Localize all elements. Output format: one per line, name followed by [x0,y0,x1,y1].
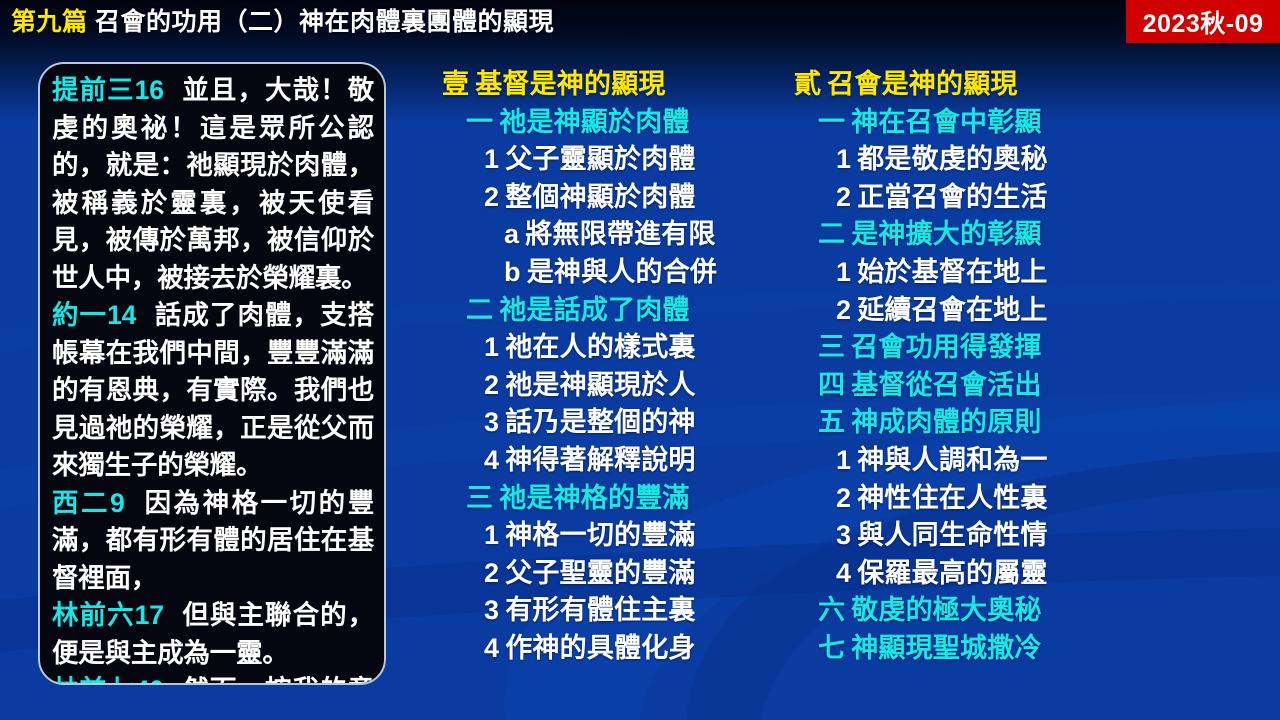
outline-marker: 1 [836,445,851,475]
verse-spacer [138,300,155,330]
outline-item-level-3: 2神性住在人性裏 [784,480,1114,518]
outline-marker: 2 [836,182,851,212]
outline-text: 有形有體住主裏 [505,595,695,625]
outline-marker: 二 [818,219,845,249]
outline-item-level-3: 3話乃是整個的神 [432,404,762,442]
outline-marker: 3 [484,595,499,625]
outline-marker: 五 [818,407,845,437]
outline-item-level-3: 4神得著解釋說明 [432,442,762,480]
outline-item-level-2: 六敬虔的極大奧秘 [784,592,1114,630]
outline-marker: 3 [484,407,499,437]
outline-text: 作神的具體化身 [505,633,695,663]
verse-item: 西二9 因為神格一切的豐滿，都有形有體的居住在基督裡面， [52,485,374,598]
outline-marker: 六 [818,595,845,625]
outline-text: 將無限帶進有限 [525,219,715,249]
outline-item-level-3: 3與人同生命性情 [784,517,1114,555]
outline-text: 神在召會中彰顯 [851,107,1041,137]
outline-marker: 一 [818,107,845,137]
outline-marker: 2 [484,182,499,212]
verse-reference: 提前三16 [52,75,164,105]
outline-text: 話乃是整個的神 [505,407,695,437]
outline-text: 祂是神顯現於人 [505,370,695,400]
page-title: 第九篇 召會的功用（二）神在肉體裏團體的顯現 [0,0,554,44]
title-main: 召會的功用（二）神在肉體裏團體的顯現 [95,8,554,36]
outline-text: 神與人調和為一 [857,445,1047,475]
outline-item-level-3: 1始於基督在地上 [784,254,1114,292]
outline-marker: 二 [466,295,493,325]
verse-item: 林前七40 然而，按我的意見，她若守節更是有福；但我想我也有神的靈了。 [52,672,374,685]
outline-item-level-2: 二祂是話成了肉體 [432,292,762,330]
outline-marker: 4 [484,633,499,663]
outline-item-level-3: 4作神的具體化身 [432,630,762,668]
outline-marker: 一 [466,107,493,137]
outline-text: 祂在人的樣式裏 [505,332,695,362]
outline-column-one: 壹基督是神的顯現一祂是神顯於肉體1父子靈顯於肉體2整個神顯於肉體a將無限帶進有限… [432,66,762,668]
outline-marker: 三 [466,483,493,513]
outline-item-level-3: 3有形有體住主裏 [432,592,762,630]
outline-text: 父子聖靈的豐滿 [505,558,695,588]
outline-marker: 2 [836,483,851,513]
outline-text: 基督從召會活出 [851,370,1041,400]
outline-item-level-4: a將無限帶進有限 [432,216,762,254]
outline-item-level-2: 一神在召會中彰顯 [784,104,1114,142]
outline-text: 祂是神顯於肉體 [499,107,689,137]
outline-item-level-2: 四基督從召會活出 [784,367,1114,405]
verse-spacer [127,488,145,518]
outline-text: 都是敬虔的奧秘 [857,144,1047,174]
outline-item-level-3: 1父子靈顯於肉體 [432,141,762,179]
outline-item-level-3: 1神格一切的豐滿 [432,517,762,555]
outline-text: 神顯現聖城撒冷 [851,633,1041,663]
verse-reference: 約一14 [52,300,136,330]
outline-item-level-3: 2父子聖靈的豐滿 [432,555,762,593]
outline-item-level-3: 4保羅最高的屬靈 [784,555,1114,593]
outline-text: 保羅最高的屬靈 [857,558,1047,588]
outline-marker: 2 [836,295,851,325]
scripture-panel: 提前三16 並且，大哉！敬虔的奧祕！這是眾所公認的，就是：祂顯現於肉體，被稱義於… [38,62,386,685]
verse-spacer [166,675,183,685]
outline-item-level-3: 2祂是神顯現於人 [432,367,762,405]
outline-item-level-1: 貳召會是神的顯現 [784,66,1114,104]
outline-marker: 貳 [794,69,821,99]
outline-item-level-2: 三祂是神格的豐滿 [432,480,762,518]
outline-item-level-3: 2延續召會在地上 [784,292,1114,330]
outline-marker: 1 [484,144,499,174]
verse-text: 並且，大哉！敬虔的奧祕！這是眾所公認的，就是：祂顯現於肉體，被稱義於靈裏，被天使… [52,75,374,293]
outline-marker: 七 [818,633,845,663]
outline-text: 神格一切的豐滿 [505,520,695,550]
outline-marker: b [504,257,521,287]
outline-item-level-1: 壹基督是神的顯現 [432,66,762,104]
outline-marker: 1 [836,144,851,174]
outline-text: 神得著解釋說明 [505,445,695,475]
chapter-label: 第九篇 [11,8,88,36]
verse-spacer [166,600,183,630]
outline-item-level-3: 1祂在人的樣式裏 [432,329,762,367]
verse-item: 林前六17 但與主聯合的，便是與主成為一靈。 [52,597,374,672]
outline-item-level-3: 1都是敬虔的奧秘 [784,141,1114,179]
outline-item-level-3: 2整個神顯於肉體 [432,179,762,217]
outline-marker: 2 [484,558,499,588]
outline-text: 父子靈顯於肉體 [505,144,695,174]
outline-item-level-4: b是神與人的合併 [432,254,762,292]
outline-marker: 2 [484,370,499,400]
outline-marker: 1 [484,520,499,550]
outline-text: 正當召會的生活 [857,182,1047,212]
outline-item-level-2: 五神成肉體的原則 [784,404,1114,442]
outline-text: 是神擴大的彰顯 [851,219,1041,249]
outline-text: 整個神顯於肉體 [505,182,695,212]
verse-item: 提前三16 並且，大哉！敬虔的奧祕！這是眾所公認的，就是：祂顯現於肉體，被稱義於… [52,72,374,297]
outline-marker: 1 [484,332,499,362]
outline-text: 祂是話成了肉體 [499,295,689,325]
outline-marker: 1 [836,257,851,287]
outline-item-level-2: 七神顯現聖城撒冷 [784,630,1114,668]
verse-reference: 林前七40 [52,675,164,685]
outline-text: 始於基督在地上 [857,257,1047,287]
verse-item: 約一14 話成了肉體，支搭帳幕在我們中間，豐豐滿滿的有恩典，有實際。我們也見過祂… [52,297,374,485]
verse-spacer [166,75,183,105]
outline-text: 召會功用得發揮 [851,332,1041,362]
outline-item-level-2: 一祂是神顯於肉體 [432,104,762,142]
verse-reference: 西二9 [52,488,125,518]
outline-item-level-3: 2正當召會的生活 [784,179,1114,217]
outline-text: 基督是神的顯現 [475,69,665,99]
outline-text: 神成肉體的原則 [851,407,1041,437]
outline-text: 與人同生命性情 [857,520,1047,550]
outline-text: 是神與人的合併 [527,257,717,287]
title-bar: 第九篇 召會的功用（二）神在肉體裏團體的顯現 2023秋-09 [0,0,1280,44]
outline-text: 延續召會在地上 [857,295,1047,325]
outline-marker: a [504,219,519,249]
verse-reference: 林前六17 [52,600,164,630]
outline-item-level-3: 1神與人調和為一 [784,442,1114,480]
outline-text: 敬虔的極大奧秘 [851,595,1041,625]
outline-marker: 壹 [442,69,469,99]
outline-text: 召會是神的顯現 [827,69,1017,99]
outline-item-level-2: 三召會功用得發揮 [784,329,1114,367]
outline-column-two: 貳召會是神的顯現一神在召會中彰顯1都是敬虔的奧秘2正當召會的生活二是神擴大的彰顯… [784,66,1114,668]
outline-text: 神性住在人性裏 [857,483,1047,513]
outline-marker: 3 [836,520,851,550]
outline-text: 祂是神格的豐滿 [499,483,689,513]
outline-marker: 4 [836,558,851,588]
term-badge: 2023秋-09 [1126,0,1280,43]
outline-marker: 三 [818,332,845,362]
outline-item-level-2: 二是神擴大的彰顯 [784,216,1114,254]
outline-marker: 4 [484,445,499,475]
outline-marker: 四 [818,370,845,400]
